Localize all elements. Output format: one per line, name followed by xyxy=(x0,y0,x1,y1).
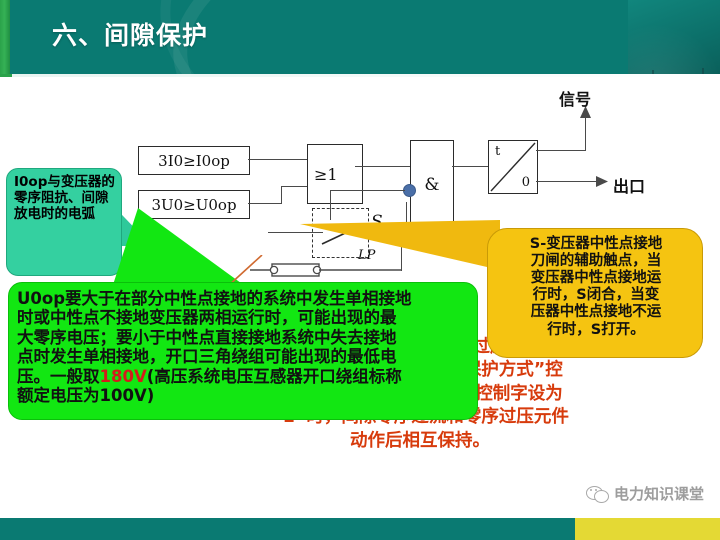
wire-timer-to-output xyxy=(536,181,598,182)
red-line-5: 动作后相互保持。 xyxy=(120,430,720,453)
wire-timer-to-signal xyxy=(536,150,586,151)
green-line-4: 点时发生单相接地，开口三角绕组可能出现的最低电 xyxy=(17,347,467,366)
footer-color-bar xyxy=(0,518,720,540)
green-line-2: 时或中性点不接地变压器两相运行时，可能出现的最 xyxy=(17,308,467,327)
wire-voltage-right xyxy=(248,203,281,204)
wire-current-to-or xyxy=(248,159,307,160)
block-timer: t 0 xyxy=(488,140,538,194)
green-line-1: U0op要大于在部分中性点接地的系统中发生单相接地 xyxy=(17,289,467,308)
i0op-note-callout: I0op与变压器的零序阻抗、间隙放电时的电弧 xyxy=(6,168,122,276)
block-or-gate: ≥1 xyxy=(307,144,363,204)
block-and-gate: & xyxy=(410,140,454,230)
yellow-line-4: 行时，S闭合，当变 xyxy=(498,287,694,304)
green-line-5-suffix: (高压系统电压互感器开口绕组标称 xyxy=(147,367,402,386)
u0op-note-callout: U0op要大于在部分中性点接地的系统中发生单相接地 时或中性点不接地变压器两相运… xyxy=(8,282,478,420)
green-line-5-highlight: 180V xyxy=(100,367,147,386)
yellow-callout-tail xyxy=(300,220,500,270)
green-line-6: 额定电压为100V) xyxy=(17,386,467,405)
green-line-3: 大零序电压；要小于中性点直接接地系统中失去接地 xyxy=(17,328,467,347)
yellow-line-3: 变压器中性点接地运 xyxy=(498,270,694,287)
footer-brand: 电力知识课堂 xyxy=(586,483,704,504)
wire-voltage-up xyxy=(281,186,282,204)
yellow-line-2: 刀闸的辅助触点，当 xyxy=(498,253,694,270)
footer-brand-label: 电力知识课堂 xyxy=(614,483,704,504)
yellow-line-6: 行时，S打开。 xyxy=(498,322,694,339)
transmission-tower-image xyxy=(628,0,720,76)
wire-and-to-timer xyxy=(452,166,488,167)
timer-zero-label: 0 xyxy=(522,175,530,190)
signal-label: 信号 xyxy=(559,86,591,110)
footer-bar-right xyxy=(575,518,720,540)
timer-t-label: t xyxy=(495,144,500,159)
green-line-5: 压。一般取180V(高压系统电压互感器开口绕组标称 xyxy=(17,367,467,386)
block-zero-seq-current: 3I0≥I0op xyxy=(138,146,250,175)
switch-s-note-callout: S-变压器中性点接地 刀闸的辅助触点，当 变压器中性点接地运 行时，S闭合，当变… xyxy=(487,228,703,358)
i0op-note-text: I0op与变压器的零序阻抗、间隙放电时的电弧 xyxy=(14,174,115,222)
wire-signal-up xyxy=(585,116,586,151)
header-swoosh-decoration-2 xyxy=(149,0,710,76)
wire-voltage-to-or xyxy=(281,186,307,187)
page-title: 六、间隙保护 xyxy=(52,16,208,52)
yellow-line-1: S-变压器中性点接地 xyxy=(498,236,694,253)
wechat-icon xyxy=(586,486,608,502)
slide-header: 六、间隙保护 xyxy=(0,0,720,76)
header-bottom-divider xyxy=(0,74,720,77)
slide-canvas: 六、间隙保护 3I0≥I0op 3U0≥U0op ≥1 & t 0 xyxy=(0,0,720,540)
wire-junction-left xyxy=(330,190,405,191)
wire-or-to-and xyxy=(355,166,410,167)
footer-bar-left xyxy=(0,518,575,540)
green-line-5-prefix: 压。一般取 xyxy=(17,367,100,386)
output-label: 出口 xyxy=(613,173,645,197)
output-arrow-icon xyxy=(594,174,610,189)
yellow-line-5: 压器中性点接地不运 xyxy=(498,304,694,321)
header-accent-stripe xyxy=(0,0,10,76)
